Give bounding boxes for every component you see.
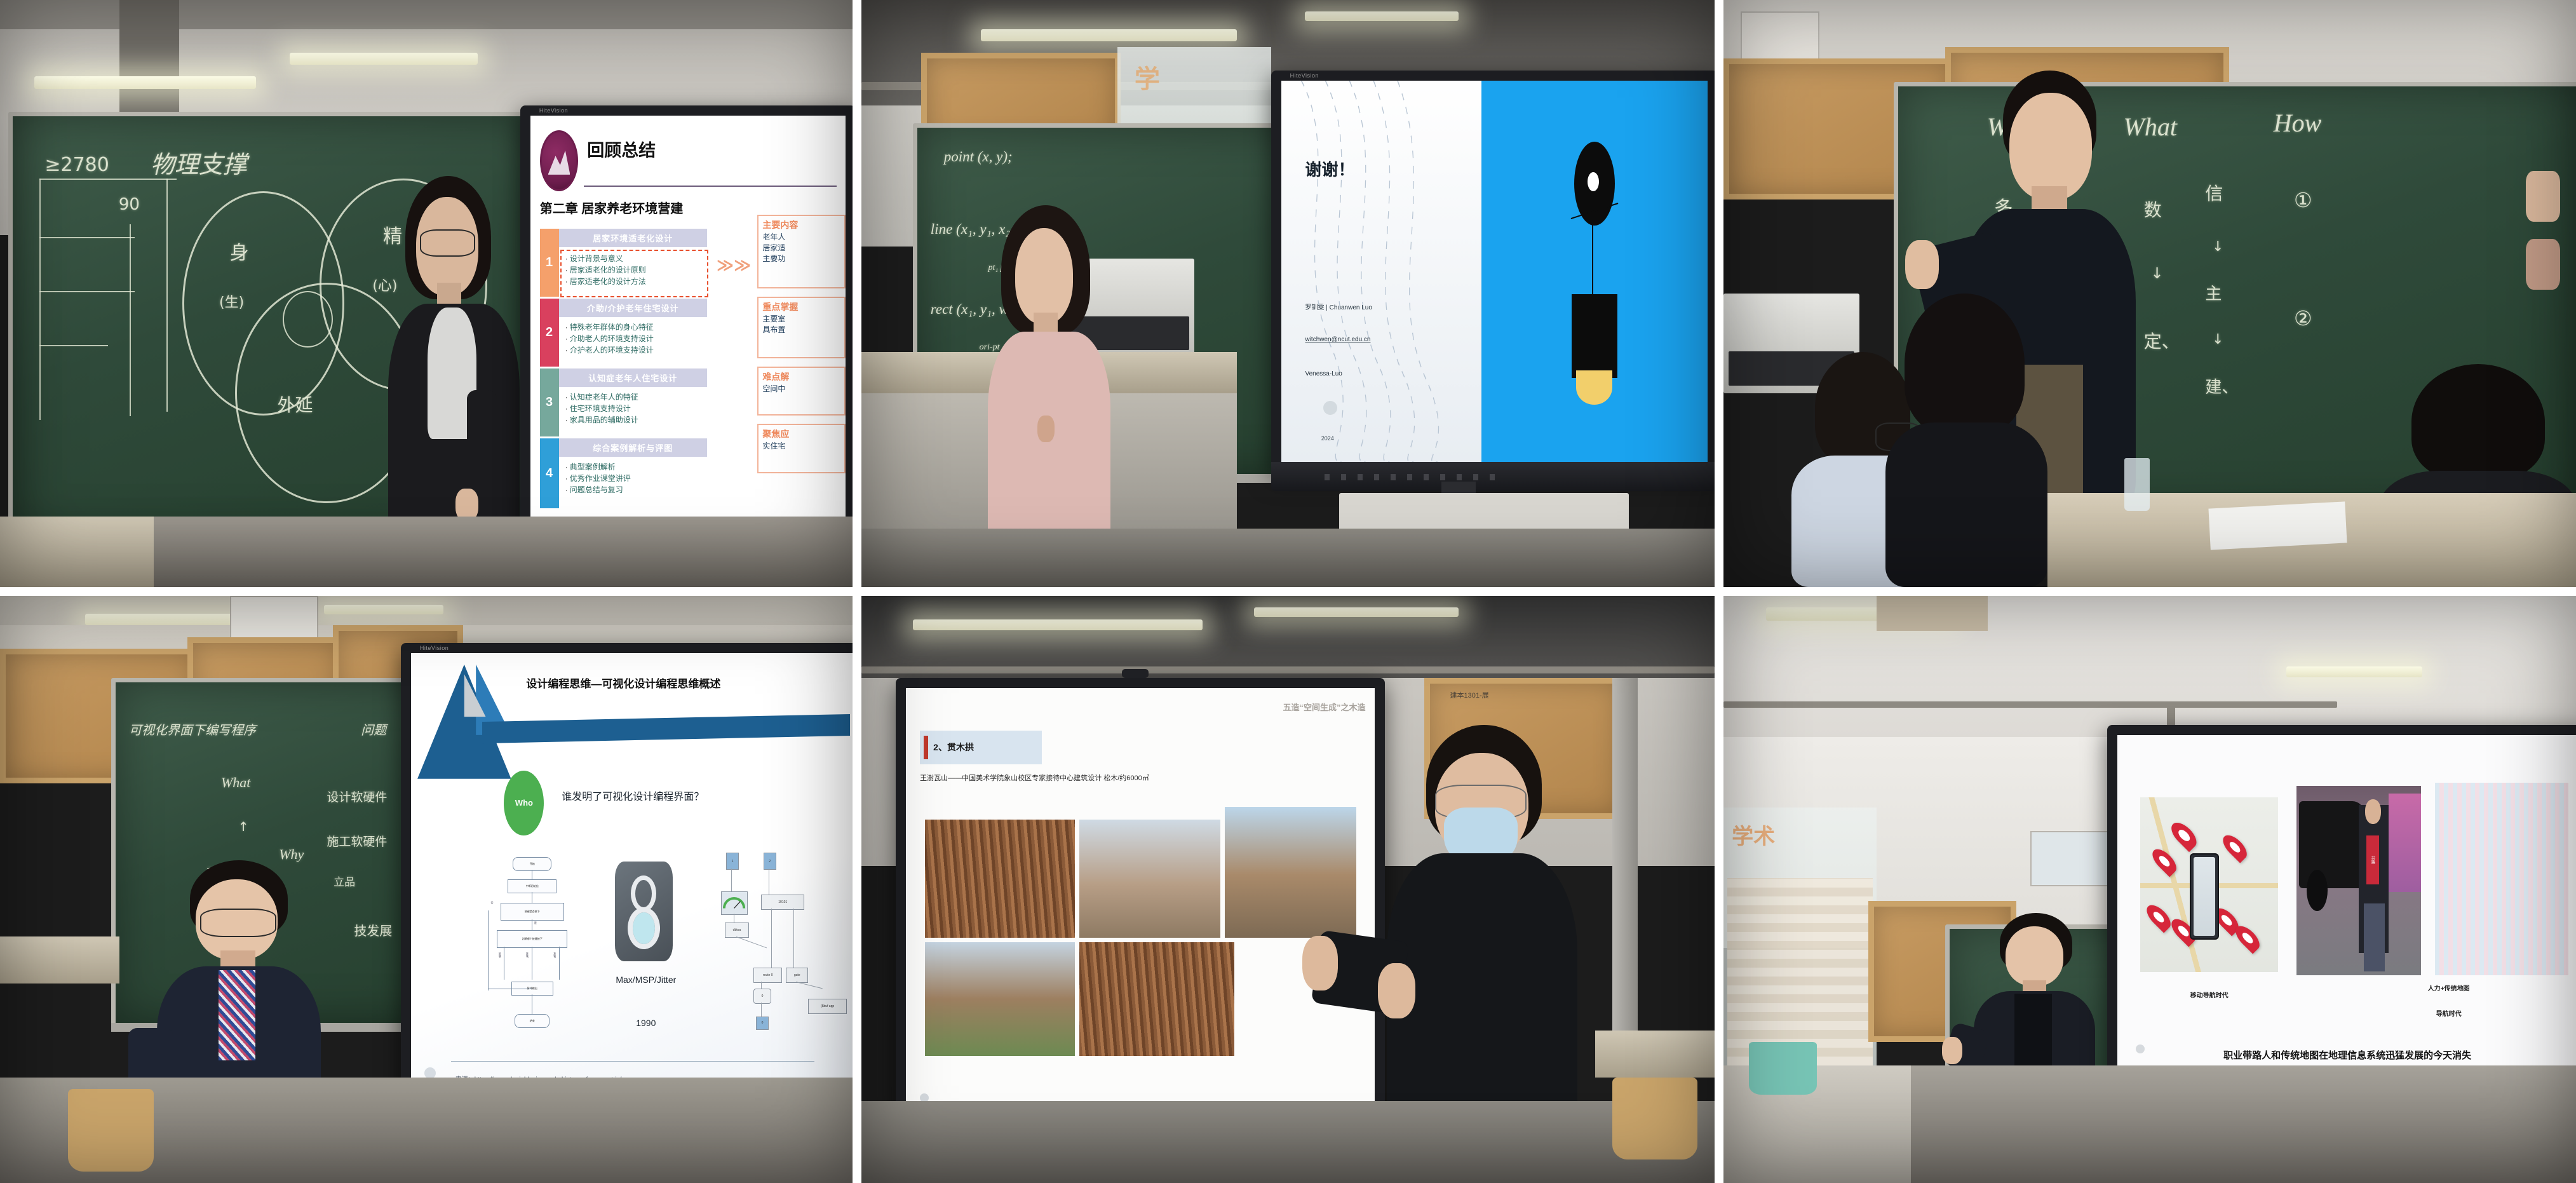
- patch-node-out: 0: [756, 1017, 769, 1030]
- bullet: 住宅环境支持设计: [565, 403, 638, 414]
- magnet: [2526, 171, 2560, 222]
- light-tube: [34, 76, 256, 89]
- light-tube: [981, 29, 1237, 41]
- section-heading-4: 综合案例解析与评图: [559, 438, 707, 456]
- section-tag: 2、 贯木拱: [920, 731, 1042, 764]
- side-table: [1595, 1031, 1715, 1078]
- flow-label-key2: 按键2: [526, 952, 529, 958]
- hand-right: [1378, 963, 1415, 1018]
- display-brand-label: HiteVision: [539, 107, 568, 114]
- interactive-display[interactable]: 带路 移动导航时代 人力+传统地图 导航时代 职业带路人和传统地图在地理信息系统…: [2107, 725, 2576, 1109]
- flowchart: 开始 中断初始化 按键是否按下 否 是 判断哪个按键按下 按键1 按键2: [487, 857, 576, 1039]
- smartphone: [2190, 853, 2218, 940]
- author-name: 罗钏雯 | Chuanwen Luo: [1305, 302, 1372, 311]
- patch-node-1: 1: [726, 853, 739, 870]
- character-body: [1572, 294, 1617, 378]
- section-heading-2: 介助/介护老年住宅设计: [559, 299, 707, 316]
- right-box-heading: 聚焦应: [762, 428, 840, 440]
- glasses-icon: [200, 909, 276, 937]
- chalk-what-b4: ↓: [2212, 332, 2223, 348]
- slide-conclusion: 职业带路人和传统地图在地理信息系统迅猛发展的今天消失: [2154, 1048, 2541, 1062]
- map-pin: [2148, 845, 2180, 877]
- light-tube: [324, 605, 443, 614]
- display-screen[interactable]: 设计编程思维—可视化设计编程思维概述 Who 谁发明了可视化设计编程界面？ 开始…: [411, 653, 853, 1088]
- chalk-sketch-line: [166, 179, 168, 412]
- flow-label-key3: 按键3: [554, 952, 557, 958]
- bullet: 认知症老年人的特征: [565, 391, 638, 403]
- slide-title: 回顾总结: [587, 137, 656, 161]
- light-tube: [913, 619, 1203, 630]
- panel-top-center: 学 point (x, y); line (x₁, y₁, x₂, y₂); p…: [861, 0, 1714, 587]
- hair: [1905, 294, 2025, 435]
- display-screen[interactable]: 五造“空间生成”之木造 2、 贯木拱 王澍瓦山——中国美术学院象山校区专家接待中…: [906, 688, 1375, 1111]
- chalk-sketch-line: [39, 345, 108, 346]
- hair: [2411, 364, 2545, 480]
- title-rule: [584, 186, 836, 187]
- flow-node-keypress: 按键是否按下: [501, 903, 564, 921]
- car-body: [2299, 801, 2364, 888]
- section-title: 贯木拱: [947, 741, 974, 754]
- slide-right-half: [1481, 81, 1708, 463]
- who-badge: Who: [504, 771, 544, 836]
- webcam-icon: [1122, 669, 1149, 678]
- title-band: [482, 714, 850, 743]
- right-box-line: 具布置: [762, 324, 840, 335]
- author-handle: Venessa-Luo: [1305, 370, 1342, 377]
- patch-node-gauge: [721, 891, 747, 916]
- venn-label-body-sub: (生): [219, 291, 244, 311]
- street-guide-image: 带路: [2296, 786, 2421, 975]
- flow-label-no: 否: [491, 901, 494, 905]
- room-sign: 建本1301-展: [1450, 690, 1489, 700]
- patch-node-dbtoa: dbtoa: [725, 923, 748, 938]
- section-bullets-3: 认知症老年人的特征 住宅环境支持设计 家具用品的辅助设计: [565, 391, 638, 426]
- flow-label-yes: 是: [534, 921, 537, 925]
- chalk-text-topic: 物理支撑: [151, 145, 247, 180]
- project-photo-3: [1225, 807, 1356, 938]
- section-number-1: 1: [540, 229, 559, 297]
- ceiling-column: [119, 0, 179, 129]
- bullet: 居家适老化的设计方法: [565, 276, 645, 287]
- bullet: 问题总结与复习: [565, 484, 630, 496]
- flow-node-init: 中断初始化: [508, 879, 556, 893]
- chalk-sketch-line: [39, 179, 41, 420]
- chalk-line-10: 技发展: [354, 921, 392, 939]
- hand-left: [1302, 936, 1338, 990]
- slide-panel1: 回顾总结 第二章 居家养老环境营建 1 居家环境适老化设计 设计背景与意义 居家…: [530, 116, 846, 527]
- flower-pot: [68, 1089, 153, 1171]
- hand-left: [1942, 1037, 1962, 1064]
- interactive-display[interactable]: HiteVision 回顾总结 第二章 居家养老环境营建 1 居家环境适老化设计…: [520, 105, 853, 537]
- necktie: [219, 970, 255, 1060]
- bullet: 介助老人的环境支持设计: [565, 333, 653, 344]
- patch-node-gate: gate: [786, 968, 808, 983]
- bullet: 家具用品的辅助设计: [565, 414, 638, 426]
- panel-top-left: ≥2780 物理支撑 90 身 (生) 精 (心) 外延: [0, 0, 853, 587]
- right-box-heading: 重点掌握: [762, 301, 840, 313]
- side-counter: [0, 936, 119, 984]
- chalk-line-3: What: [221, 774, 250, 791]
- light-tube: [2286, 666, 2423, 677]
- chalk-what-b3: 主: [2205, 281, 2222, 304]
- section-number-3: 3: [540, 368, 559, 436]
- chalk-sketch-line: [39, 179, 177, 180]
- flow-node-which-key: 判断哪个按键按下: [497, 930, 567, 948]
- navigation-map-image: [2140, 797, 2278, 972]
- chalk-line-1: 可视化界面下编写程序: [129, 720, 256, 738]
- max-patch-diagram: 1 2 10101 dbtoa route 0 gate 0 ($buf app…: [721, 853, 845, 1027]
- patch-node-10101: 10101: [761, 895, 804, 910]
- right-box-line: 主要功: [762, 253, 840, 264]
- panel-bottom-right: 学术: [1723, 596, 2576, 1183]
- chalk-what-b5: 建、: [2205, 374, 2238, 398]
- head: [2006, 926, 2063, 986]
- plant-pot: [1612, 1078, 1697, 1159]
- section-number-4: 4: [540, 438, 559, 508]
- chalk-code-line-1: point (x, y);: [944, 149, 1013, 165]
- thanks-headline: 谢谢！: [1305, 157, 1354, 180]
- slide-year: 2024: [1321, 435, 1334, 442]
- map-pin: [2219, 831, 2251, 863]
- wall-text: 学: [1135, 58, 1160, 95]
- guide-person-legs: [2364, 903, 2385, 971]
- head: [2009, 93, 2091, 200]
- floor: [861, 1101, 1714, 1183]
- slide-question: 谁发明了可视化设计编程界面？: [562, 788, 704, 803]
- right-box-heading: 难点解: [762, 370, 840, 383]
- section-number: 2、: [933, 741, 947, 754]
- footer-rule: [451, 1061, 814, 1062]
- photo-grid: ≥2780 物理支撑 90 身 (生) 精 (心) 外延: [0, 0, 2576, 1183]
- chalk-header-how: How: [2274, 108, 2322, 138]
- ceiling-pipe: [861, 666, 1714, 673]
- front-desk: [0, 517, 154, 587]
- product-year: 1990: [593, 1018, 699, 1028]
- ceiling-pipe: [1723, 701, 2337, 708]
- flow-node-end: 结束: [515, 1014, 550, 1028]
- section-heading-3: 认知症老年人住宅设计: [559, 368, 707, 386]
- map-pin: [2168, 818, 2201, 852]
- audience-member-center: [1885, 294, 2047, 587]
- hand-pointing: [1905, 240, 1938, 289]
- bullet: 优秀作业课堂讲评: [565, 473, 630, 484]
- right-box-line: 居家适: [762, 242, 840, 253]
- chalk-sketch-line: [39, 291, 135, 292]
- patch-node-2: 2: [764, 853, 776, 870]
- paper-sheet: [2208, 501, 2347, 550]
- character-neck-line: [1592, 218, 1593, 302]
- right-box-1: 主要内容 老年人 居家适 主要功: [757, 215, 846, 288]
- chalk-line-7: 设计软硬件: [327, 788, 387, 805]
- panel-top-right: Why What How 多 快 好 数 ↓ 定、 信 ↓ 主 ↓ 建、 ① ②: [1723, 0, 2576, 587]
- display-brand-label: HiteVision: [1290, 72, 1319, 79]
- chalk-text-dim: 90: [119, 195, 140, 214]
- chalk-line-4: ↑: [238, 819, 249, 834]
- contour-decoration: [1281, 81, 1481, 463]
- right-box-line: 主要室: [762, 313, 840, 324]
- right-box-line: 空间中: [762, 383, 840, 394]
- patch-node-route: route 0: [753, 968, 782, 983]
- section-number-2: 2: [540, 299, 559, 367]
- display-screen[interactable]: 回顾总结 第二章 居家养老环境营建 1 居家环境适老化设计 设计背景与意义 居家…: [530, 116, 846, 527]
- project-photo-1: [925, 820, 1075, 938]
- product-name: Max/MSP/Jitter: [593, 975, 699, 985]
- head: [1015, 228, 1073, 323]
- project-photo-2: [1079, 820, 1220, 938]
- slide-left-half: 谢谢！ 罗钏雯 | Chuanwen Luo witchwen@ncut.edu…: [1281, 81, 1481, 463]
- wall-text: 学术: [1732, 819, 1775, 850]
- max-msp-jitter-icon: [615, 862, 673, 961]
- caption-right-line1: 人力+传统地图: [2384, 983, 2513, 992]
- metal-post: [1612, 678, 1638, 1030]
- interactive-display[interactable]: HiteVision 设计编程思维—可视化设计编程思维概述 Who 谁发明了可视…: [401, 643, 853, 1098]
- light-tube: [1305, 11, 1459, 21]
- bullet: 介护老人的环境支持设计: [565, 344, 653, 356]
- slide-chapter: 第二章 居家养老环境营建: [540, 198, 684, 217]
- background-vehicle: [2389, 794, 2421, 892]
- right-box-4: 聚焦应 实住宅: [757, 424, 846, 473]
- caption-right-line2: 导航时代: [2384, 1008, 2513, 1018]
- right-box-line: 老年人: [762, 231, 840, 242]
- hand: [1037, 416, 1055, 442]
- bullet: 设计背景与意义: [565, 253, 645, 264]
- torso-blazer: [1885, 422, 2047, 587]
- project-photo-5: [1079, 942, 1234, 1057]
- caption-left: 移动导航时代: [2154, 990, 2265, 999]
- section-bullets-4: 典型案例解析 优秀作业课堂讲评 问题总结与复习: [565, 461, 630, 496]
- magnet: [2526, 239, 2560, 290]
- character-eye: [1588, 172, 1599, 191]
- display-control-bar[interactable]: [1271, 462, 1715, 491]
- slide-title: 设计编程思维—可视化设计编程思维概述: [526, 675, 720, 691]
- chalk-line-2: 问题: [361, 720, 386, 738]
- map-pin: [2143, 901, 2175, 933]
- ceiling-beam: [1877, 596, 1988, 631]
- right-box-3: 难点解 空间中: [757, 367, 846, 416]
- venn-label-external: 外延: [278, 391, 313, 417]
- ncut-logo-icon: [540, 130, 579, 192]
- car-wheel: [2307, 870, 2328, 912]
- author-email[interactable]: witchwen@ncut.edu.cn: [1305, 336, 1370, 343]
- display-brand-label: HiteVision: [420, 645, 448, 651]
- right-box-2: 重点掌握 主要室 具布置: [757, 297, 846, 358]
- chalk-line-8: 施工软硬件: [327, 832, 387, 849]
- bullet: 居家适老化的设计原则: [565, 264, 645, 276]
- slide-watermark-header: 五造“空间生成”之木造: [1283, 701, 1366, 713]
- panel-bottom-left: 可视化界面下编写程序 问题 What ↑ 可视 Why 设计软硬件 施工软硬件 …: [0, 596, 853, 1183]
- bullet: 特殊老年群体的身心特征: [565, 321, 653, 333]
- panel-bottom-center: 建本1301-展 五造“空间生成”之木造 2、 贯木拱 王澍瓦山——中国美术学院…: [861, 596, 1714, 1183]
- chalk-sketch-line: [39, 237, 135, 238]
- venn-label-body: 身: [230, 237, 249, 265]
- flow-node-start: 开始: [513, 857, 551, 871]
- water-bottle: [2124, 458, 2150, 511]
- slide-footer-logo-icon: [2136, 1044, 2145, 1053]
- glasses-icon: [420, 229, 475, 257]
- traditional-map-image: [2435, 783, 2568, 976]
- interactive-display[interactable]: HiteVision 谢谢！: [1271, 71, 1715, 473]
- slide-panel2: 谢谢！ 罗钏雯 | Chuanwen Luo witchwen@ncut.edu…: [1281, 81, 1708, 463]
- flow-label-key1: 按键1: [499, 952, 502, 958]
- chevron-arrow-icon: ≫≫: [717, 255, 751, 275]
- guide-person-head: [2365, 799, 2381, 824]
- project-photo-4: [925, 942, 1075, 1057]
- window: [2030, 831, 2118, 886]
- light-tube: [290, 53, 477, 64]
- guide-sign: 带路: [2366, 835, 2379, 884]
- chalk-what-b2: ↓: [2212, 239, 2223, 255]
- chalk-text-number: ≥2780: [44, 154, 109, 176]
- slide-panel6: 带路 移动导航时代 人力+传统地图 导航时代 职业带路人和传统地图在地理信息系统…: [2117, 735, 2576, 1099]
- chalk-sketch-line: [130, 224, 131, 416]
- character-base: [1576, 370, 1612, 405]
- display-screen[interactable]: 谢谢！ 罗钏雯 | Chuanwen Luo witchwen@ncut.edu…: [1281, 81, 1708, 463]
- slide-panel4: 设计编程思维—可视化设计编程思维概述 Who 谁发明了可视化设计编程界面？ 开始…: [411, 653, 853, 1088]
- bullet: 典型案例解析: [565, 461, 630, 473]
- right-box-line: 实住宅: [762, 440, 840, 451]
- patch-node-slider: 0: [753, 989, 771, 1004]
- chalk-how-1: ①: [2294, 188, 2312, 212]
- slide-panel5: 五造“空间生成”之木造 2、 贯木拱 王澍瓦山——中国美术学院象山校区专家接待中…: [906, 688, 1375, 1111]
- section-bullets-1: 设计背景与意义 居家适老化的设计原则 居家适老化的设计方法: [565, 253, 645, 287]
- section-bullets-2: 特殊老年群体的身心特征 介助老人的环境支持设计 介护老人的环境支持设计: [565, 321, 653, 356]
- chalk-what-b1: 信: [2205, 180, 2223, 205]
- interactive-display[interactable]: 五造“空间生成”之木造 2、 贯木拱 王澍瓦山——中国美术学院象山校区专家接待中…: [896, 678, 1385, 1121]
- venn-center-overlap: [283, 291, 333, 348]
- section-heading-1: 居家环境适老化设计: [559, 229, 707, 247]
- tag-accent-bar: [924, 736, 928, 759]
- light-tube: [1254, 607, 1459, 617]
- floor: [861, 529, 1714, 587]
- display-screen[interactable]: 带路 移动导航时代 人力+传统地图 导航时代 职业带路人和传统地图在地理信息系统…: [2117, 735, 2576, 1099]
- section-subtitle: 王澍瓦山——中国美术学院象山校区专家接待中心建筑设计 松木/约6000㎡: [920, 773, 1149, 783]
- chalk-how-2: ②: [2294, 306, 2312, 330]
- patch-node-buf: ($buf app: [808, 999, 847, 1014]
- right-box-heading: 主要内容: [762, 219, 840, 231]
- cup: [1749, 1042, 1817, 1095]
